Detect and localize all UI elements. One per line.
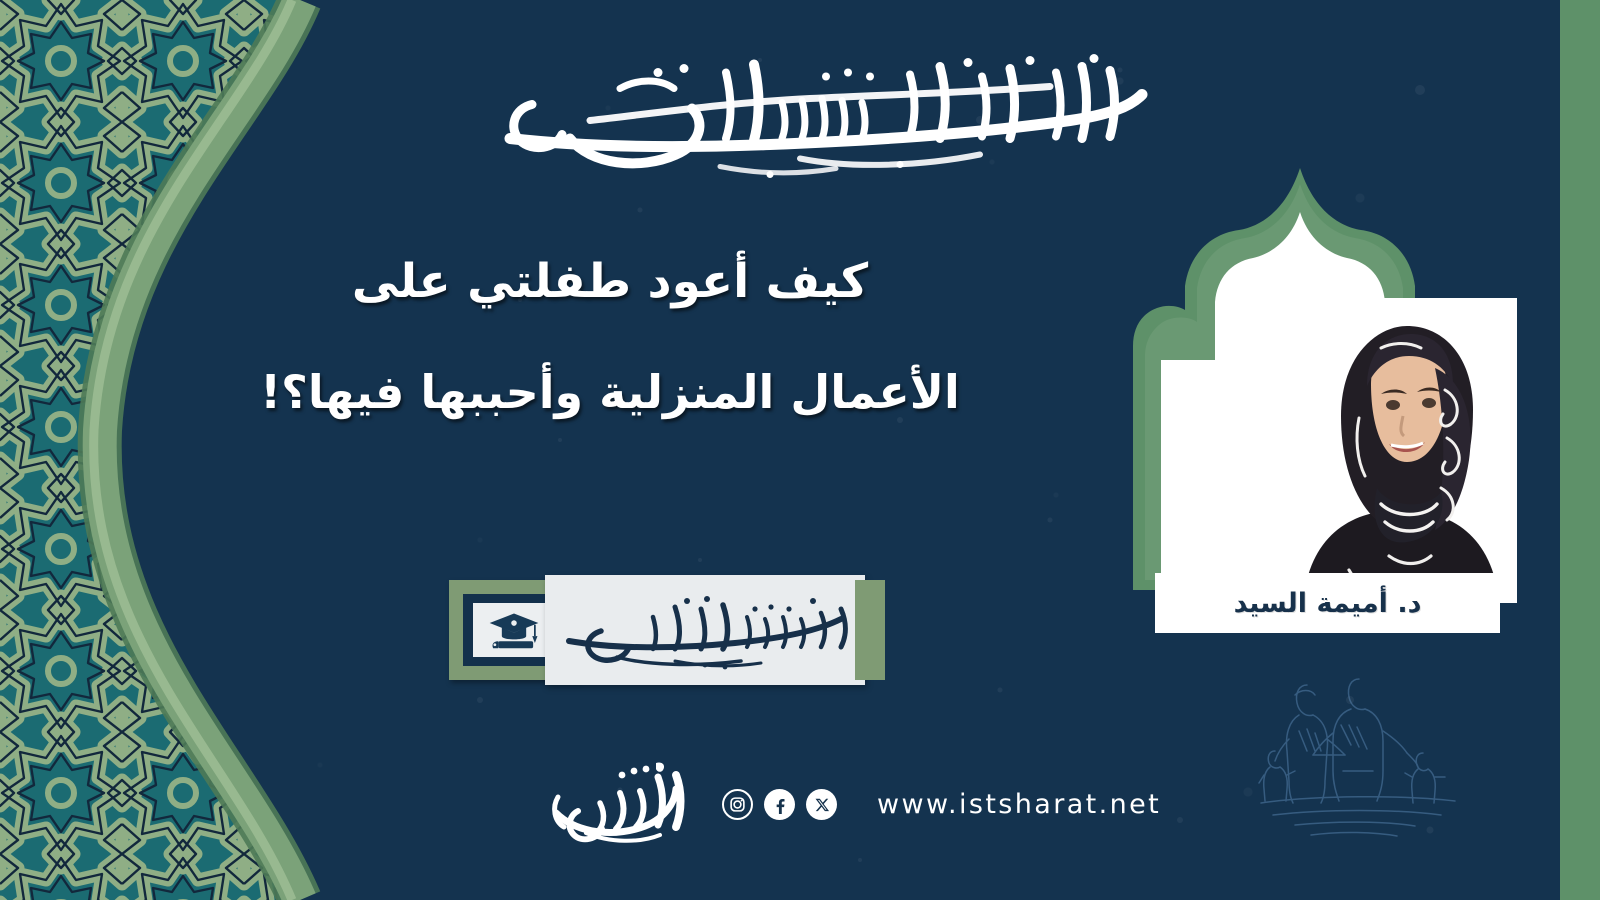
facebook-icon[interactable]	[764, 789, 795, 820]
category-badge	[449, 575, 885, 685]
graduation-cap-book-icon	[473, 603, 555, 657]
badge-label-panel	[545, 575, 865, 685]
title-line-2: الأعمال المنزلية وأحببها فيها؟!	[180, 366, 1040, 419]
right-edge-strip	[1560, 0, 1600, 900]
community-calligraphy-svg	[540, 757, 690, 852]
x-twitter-icon[interactable]	[806, 789, 837, 820]
instagram-icon[interactable]	[722, 789, 753, 820]
badge-calligraphy-svg	[555, 587, 855, 673]
expert-portrait-svg	[1285, 298, 1517, 603]
social-links	[722, 789, 837, 820]
page-title: كيف أعود طفلتي على الأعمال المنزلية وأحب…	[180, 255, 1040, 419]
title-line-1: كيف أعود طفلتي على	[180, 255, 1040, 310]
expert-name: د. أميمة السيد	[1234, 588, 1422, 619]
expert-photo	[1285, 298, 1517, 603]
expert-card: د. أميمة السيد	[1085, 160, 1515, 640]
expert-name-plate: د. أميمة السيد	[1155, 573, 1500, 633]
footer-bar: www.istsharat.net	[540, 752, 1200, 857]
left-ornament-panel	[0, 0, 430, 900]
badge-green-tab	[855, 580, 885, 680]
community-logo	[540, 757, 690, 852]
family-line-art	[1255, 655, 1505, 870]
website-url[interactable]: www.istsharat.net	[877, 789, 1161, 820]
poster-canvas: بوابة الاستشارات الإلكترونية كيف أعود طف…	[0, 0, 1600, 900]
